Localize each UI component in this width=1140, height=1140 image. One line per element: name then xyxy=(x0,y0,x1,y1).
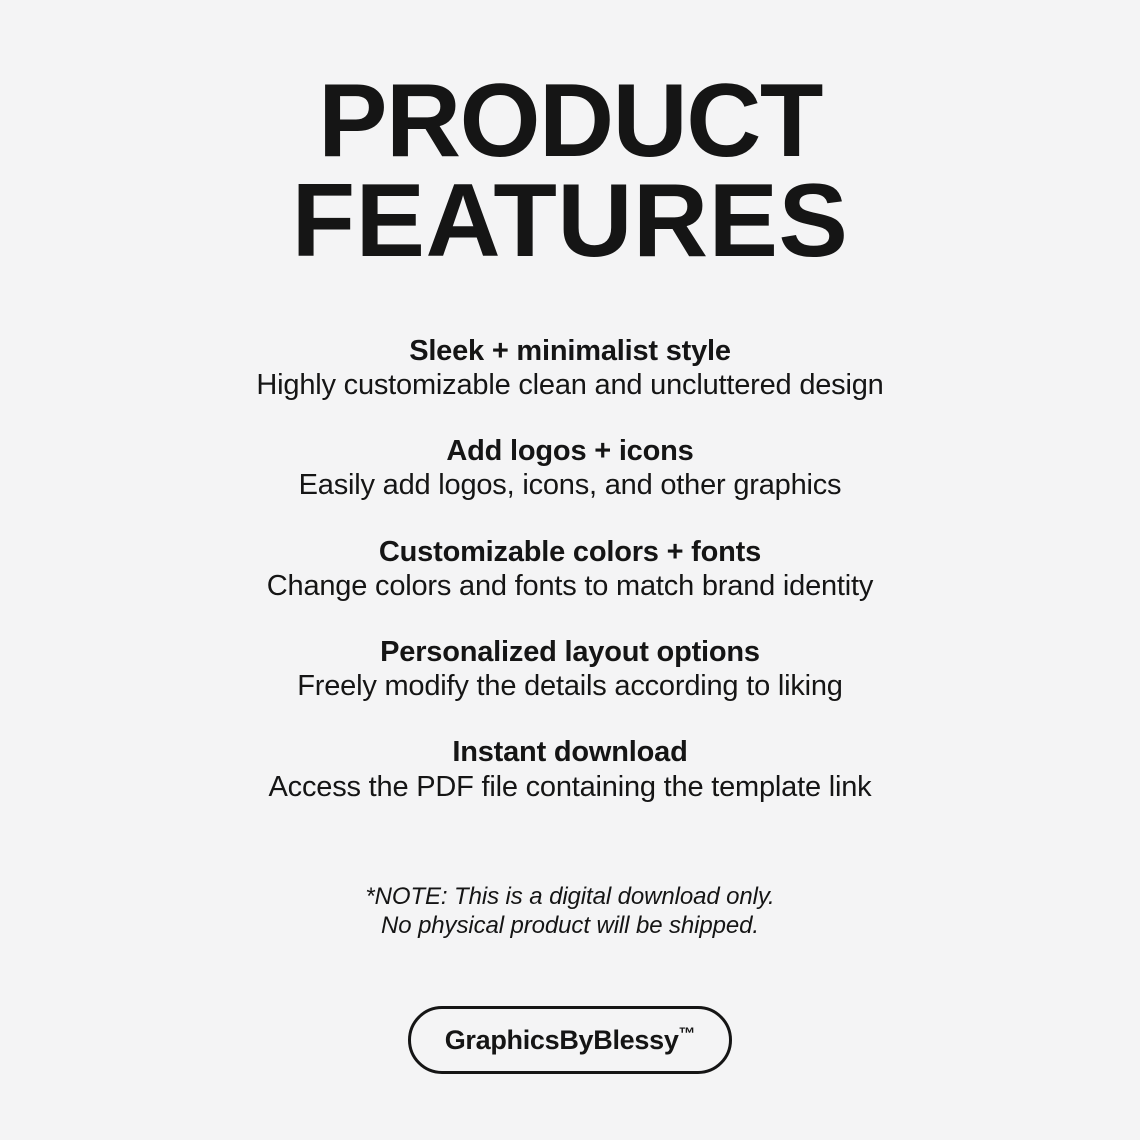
feature-item: Add logos + icons Easily add logos, icon… xyxy=(0,434,1140,502)
disclaimer-note-line-1: *NOTE: This is a digital download only. xyxy=(0,882,1140,911)
page-title-line-1: PRODUCT xyxy=(0,72,1140,172)
feature-title: Sleek + minimalist style xyxy=(0,334,1140,368)
feature-description: Highly customizable clean and uncluttere… xyxy=(0,368,1140,402)
feature-title: Instant download xyxy=(0,735,1140,769)
feature-description: Freely modify the details according to l… xyxy=(0,669,1140,703)
brand-logo-pill: GraphicsByBlessy™ xyxy=(408,1006,733,1074)
disclaimer-note-line-2: No physical product will be shipped. xyxy=(0,911,1140,940)
feature-title: Customizable colors + fonts xyxy=(0,535,1140,569)
brand-logo-text: GraphicsByBlessy™ xyxy=(445,1026,696,1054)
feature-title: Personalized layout options xyxy=(0,635,1140,669)
feature-list: Sleek + minimalist style Highly customiz… xyxy=(0,334,1140,804)
feature-title: Add logos + icons xyxy=(0,434,1140,468)
feature-item: Instant download Access the PDF file con… xyxy=(0,735,1140,803)
feature-item: Personalized layout options Freely modif… xyxy=(0,635,1140,703)
brand-name: GraphicsByBlessy xyxy=(445,1025,679,1055)
product-features-page: PRODUCT FEATURES Sleek + minimalist styl… xyxy=(0,0,1140,1140)
feature-description: Change colors and fonts to match brand i… xyxy=(0,569,1140,603)
page-title-line-2: FEATURES xyxy=(0,172,1140,272)
feature-item: Customizable colors + fonts Change color… xyxy=(0,535,1140,603)
feature-item: Sleek + minimalist style Highly customiz… xyxy=(0,334,1140,402)
trademark-icon: ™ xyxy=(679,1024,696,1043)
feature-description: Access the PDF file containing the templ… xyxy=(0,770,1140,804)
brand-logo-container: GraphicsByBlessy™ xyxy=(0,1006,1140,1074)
page-title: PRODUCT FEATURES xyxy=(0,72,1140,272)
disclaimer-note: *NOTE: This is a digital download only. … xyxy=(0,882,1140,941)
feature-description: Easily add logos, icons, and other graph… xyxy=(0,468,1140,502)
